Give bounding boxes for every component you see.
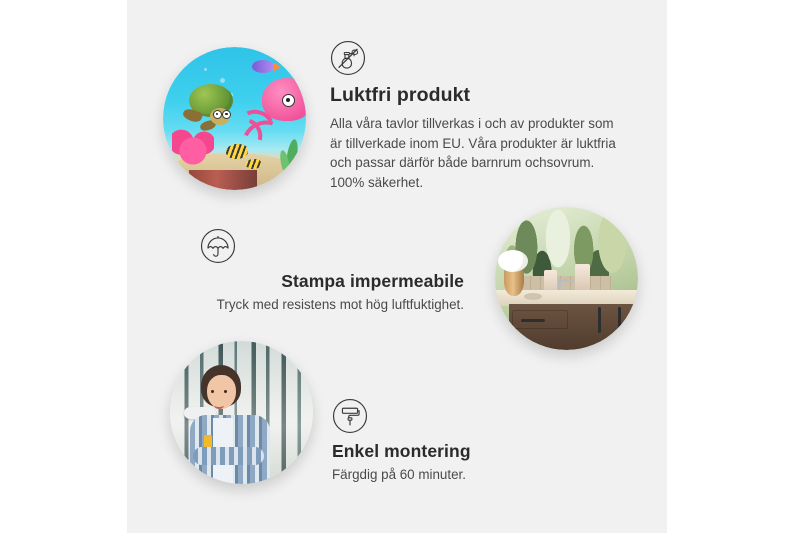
underwater-aquarium-mural-thumbnail xyxy=(163,47,306,190)
paint-roller-icon xyxy=(332,398,592,434)
feature-copy-water: Stampa impermeabile Tryck med resistens … xyxy=(200,228,464,312)
feature-copy-odour: Luktfri produkt Alla våra tavlor tillver… xyxy=(330,40,622,192)
feature-description: Alla våra tavlor tillverkas i och av pro… xyxy=(330,114,622,192)
feature-copy-mount: Enkel montering Färgdig på 60 minuter. xyxy=(332,398,592,482)
bathroom-tropical-leaf-wallpaper-thumbnail xyxy=(495,207,638,350)
feature-title: Enkel montering xyxy=(332,441,592,462)
promo-banner: Luktfri produkt Alla våra tavlor tillver… xyxy=(0,0,800,533)
feature-title: Luktfri produkt xyxy=(330,84,622,107)
feature-description: Färgdig på 60 minuter. xyxy=(332,467,592,482)
painter-woman-forest-wallpaper-thumbnail xyxy=(170,341,313,484)
no-odour-perfume-bottle-icon xyxy=(330,40,622,76)
feature-title: Stampa impermeabile xyxy=(200,271,464,292)
umbrella-waterproof-icon xyxy=(200,228,464,264)
feature-description: Tryck med resistens mot hög luftfuktighe… xyxy=(200,297,464,312)
